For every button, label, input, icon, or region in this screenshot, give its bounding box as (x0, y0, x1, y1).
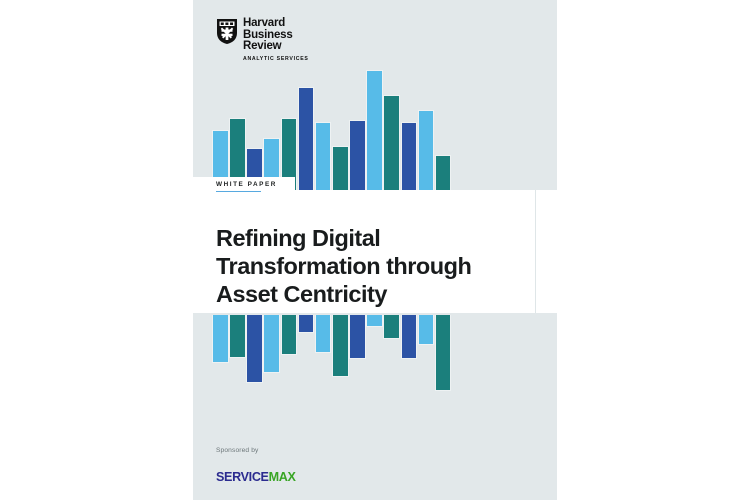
servicemax-logo-part2: MAX (269, 470, 296, 484)
bar (435, 315, 452, 391)
bar (418, 110, 435, 190)
category-tag-rule (216, 191, 261, 193)
bottom-bar-chart (212, 315, 452, 395)
harvard-business-review-logo: Harvard Business Review ANALYTIC SERVICE… (216, 18, 309, 62)
bar (298, 87, 315, 190)
bar (332, 146, 349, 190)
servicemax-logo-part1: SERVICE (216, 470, 269, 484)
bar (246, 315, 263, 383)
page-title: Refining Digital Transformation through … (216, 224, 526, 308)
sponsor-block: Sponsored by SERVICEMAX (216, 447, 296, 484)
bar (315, 122, 332, 190)
harvard-shield-icon (216, 18, 238, 45)
bar (298, 315, 315, 333)
category-tag: WHITE PAPER (193, 177, 295, 195)
category-tag-label: WHITE PAPER (216, 181, 277, 188)
top-bar-chart (212, 60, 452, 190)
title-section: Refining Digital Transformation through … (193, 190, 557, 313)
bar (418, 315, 435, 345)
whitepaper-cover: Harvard Business Review ANALYTIC SERVICE… (193, 0, 557, 500)
bar (401, 315, 418, 359)
bar (212, 315, 229, 363)
bar (281, 315, 298, 355)
logo-line-1: Harvard (243, 18, 309, 30)
bar (366, 70, 383, 190)
bar (349, 120, 366, 190)
logo-wordmark: Harvard Business Review ANALYTIC SERVICE… (243, 18, 309, 62)
sponsored-by-label: Sponsored by (216, 447, 296, 454)
bar (263, 315, 280, 373)
servicemax-logo: SERVICEMAX (216, 470, 296, 484)
bar (349, 315, 366, 359)
logo-line-3: Review (243, 41, 309, 53)
bar (383, 95, 400, 190)
bar (229, 315, 246, 358)
bar (435, 155, 452, 190)
bar (366, 315, 383, 327)
bar (383, 315, 400, 339)
logo-subtitle: ANALYTIC SERVICES (243, 57, 309, 62)
bar (401, 122, 418, 190)
vertical-divider (535, 190, 536, 313)
bar (315, 315, 332, 353)
bar (332, 315, 349, 377)
